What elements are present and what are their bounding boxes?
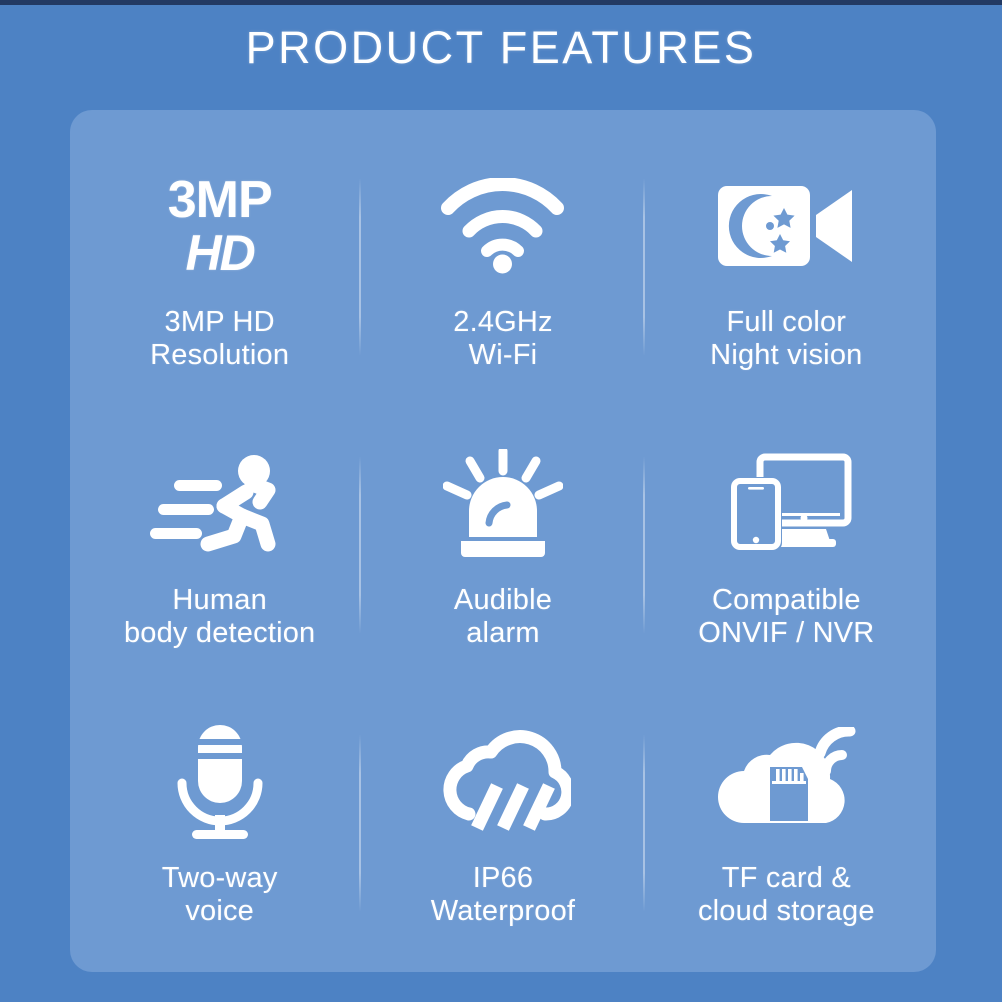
wifi-icon xyxy=(440,162,565,290)
feature-label: Audible alarm xyxy=(454,584,552,650)
night-vision-camera-icon xyxy=(716,162,856,290)
feature-label: Two-way voice xyxy=(162,862,278,928)
feature-item-compatible-onvif[interactable]: Compatible ONVIF / NVR xyxy=(645,406,928,684)
feature-label: TF card & cloud storage xyxy=(698,862,875,928)
features-panel: 3MP HD 3MP HD Resolution 2.4GHz Wi-Fi xyxy=(70,110,936,972)
feature-label: 2.4GHz Wi-Fi xyxy=(453,306,553,372)
rain-cloud-icon xyxy=(435,718,571,846)
hd-logo-bottom-text: HD xyxy=(186,228,254,278)
feature-label: IP66 Waterproof xyxy=(431,862,575,928)
top-bar-strip xyxy=(0,0,1002,5)
feature-item-night-vision[interactable]: Full color Night vision xyxy=(645,128,928,406)
feature-label: Human body detection xyxy=(124,584,315,650)
feature-label: 3MP HD Resolution xyxy=(150,306,289,372)
3mp-logo-top-text: 3MP xyxy=(168,174,272,226)
feature-item-wifi[interactable]: 2.4GHz Wi-Fi xyxy=(361,128,644,406)
feature-label: Full color Night vision xyxy=(710,306,862,372)
feature-item-two-way-voice[interactable]: Two-way voice xyxy=(78,684,361,962)
feature-item-audible-alarm[interactable]: Audible alarm xyxy=(361,406,644,684)
running-person-icon xyxy=(150,440,290,568)
microphone-icon xyxy=(168,718,272,846)
page-title: PRODUCT FEATURES xyxy=(0,22,1002,74)
3mp-hd-logo-icon: 3MP HD xyxy=(168,162,272,290)
feature-item-ip66-waterproof[interactable]: IP66 Waterproof xyxy=(361,684,644,962)
cloud-tf-card-icon xyxy=(716,718,856,846)
siren-alarm-icon xyxy=(443,440,563,568)
monitor-phone-devices-icon xyxy=(720,440,852,568)
feature-item-3mp-hd[interactable]: 3MP HD 3MP HD Resolution xyxy=(78,128,361,406)
feature-label: Compatible ONVIF / NVR xyxy=(698,584,874,650)
feature-item-tf-cloud-storage[interactable]: TF card & cloud storage xyxy=(645,684,928,962)
feature-item-human-detection[interactable]: Human body detection xyxy=(78,406,361,684)
